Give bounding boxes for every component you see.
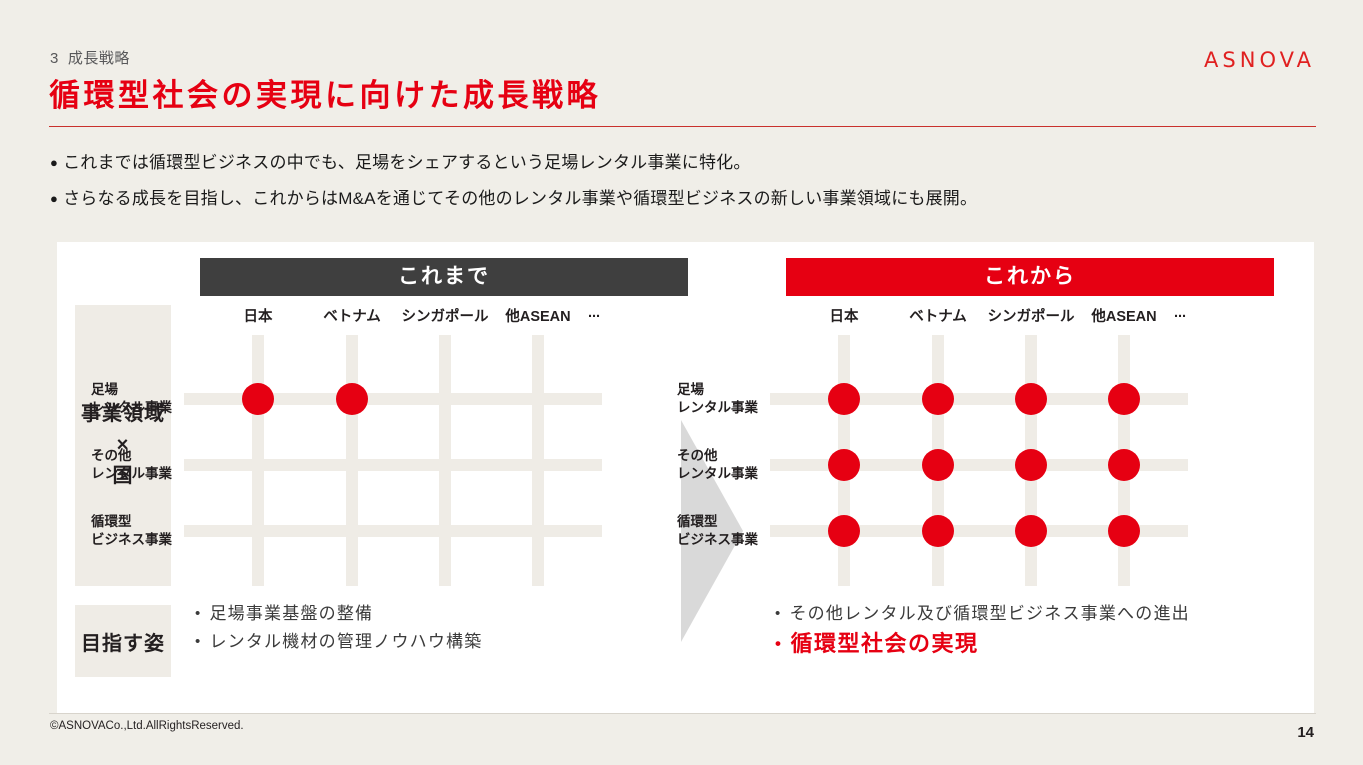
- section-label: 3成長戦略: [50, 47, 130, 68]
- matrix-row-label-line-1: その他: [91, 447, 172, 465]
- goal-list-future: • その他レンタル及び循環型ビジネス事業への進出 • 循環型社会の実現: [775, 600, 1190, 660]
- matrix-column-label: 他ASEAN: [505, 305, 570, 326]
- matrix-node-dot: [828, 515, 860, 547]
- goal-item-text: 循環型社会の実現: [790, 628, 978, 660]
- lead-bullet-item: ● さらなる成長を目指し、これからはM&Aを通じてその他のレンタル事業や循環型ビ…: [50, 188, 1330, 210]
- slide-header: 3成長戦略 循環型社会の実現に向けた成長戦略 ASNOVA: [0, 0, 1363, 132]
- grid-line-horizontal: [184, 525, 602, 537]
- matrix-row-label: その他レンタル事業: [677, 447, 758, 483]
- goal-list-item-highlight: • 循環型社会の実現: [775, 628, 1190, 660]
- lead-bullet-text: さらなる成長を目指し、これからはM&Aを通じてその他のレンタル事業や循環型ビジネ…: [63, 188, 977, 210]
- matrix-past: 日本ベトナムシンガポール他ASEAN...足場レンタル事業その他レンタル事業循環…: [184, 305, 689, 586]
- content-panel: これまで これから 事業領域 × 国 目指す姿 日本ベトナムシンガポール他ASE…: [57, 242, 1314, 713]
- section-name: 成長戦略: [68, 50, 130, 67]
- goal-list-item: • 足場事業基盤の整備: [195, 600, 482, 628]
- matrix-column-label: 日本: [244, 305, 273, 326]
- matrix-row-label-line-2: レンタル事業: [677, 465, 758, 483]
- side-label-goal: 目指す姿: [75, 605, 171, 677]
- goal-list-item: • レンタル機材の管理ノウハウ構築: [195, 628, 482, 656]
- matrix-column-overflow-label: ...: [1174, 305, 1186, 321]
- matrix-row-label-line-1: 循環型: [677, 513, 758, 531]
- footer-divider: [49, 713, 1316, 714]
- matrix-node-dot: [1015, 383, 1047, 415]
- bullet-marker-icon: •: [775, 600, 781, 628]
- matrix-column-overflow-label: ...: [588, 305, 600, 321]
- page-number: 14: [1297, 724, 1314, 741]
- asnova-logo: ASNOVA: [1204, 48, 1315, 72]
- matrix-node-dot: [242, 383, 274, 415]
- lead-bullet-list: ● これまでは循環型ビジネスの中でも、足場をシェアするという足場レンタル事業に特…: [50, 152, 1330, 224]
- goal-list-item: • その他レンタル及び循環型ビジネス事業への進出: [775, 600, 1190, 628]
- page-title: 循環型社会の実現に向けた成長戦略: [49, 70, 601, 115]
- matrix-row-label: 循環型ビジネス事業: [677, 513, 758, 549]
- matrix-node-dot: [1108, 383, 1140, 415]
- bullet-marker-icon: •: [195, 600, 201, 628]
- matrix-node-dot: [1108, 449, 1140, 481]
- matrix-column-label: 日本: [830, 305, 859, 326]
- goal-list-past: • 足場事業基盤の整備 • レンタル機材の管理ノウハウ構築: [195, 600, 482, 656]
- matrix-node-dot: [828, 449, 860, 481]
- matrix-column-label: シンガポール: [402, 305, 489, 326]
- banner-past: これまで: [200, 258, 688, 296]
- matrix-future: 日本ベトナムシンガポール他ASEAN...足場レンタル事業その他レンタル事業循環…: [770, 305, 1275, 586]
- matrix-node-dot: [922, 449, 954, 481]
- matrix-row-label-line-2: レンタル事業: [91, 399, 172, 417]
- matrix-node-dot: [1015, 449, 1047, 481]
- goal-item-text: 足場事業基盤の整備: [209, 600, 373, 628]
- matrix-column-label: ベトナム: [909, 305, 967, 326]
- banner-future: これから: [786, 258, 1274, 296]
- matrix-row-label: 循環型ビジネス事業: [91, 513, 172, 549]
- bullet-marker-icon: •: [775, 628, 782, 660]
- matrix-node-dot: [922, 383, 954, 415]
- matrix-node-dot: [336, 383, 368, 415]
- matrix-column-label: ベトナム: [323, 305, 381, 326]
- matrix-node-dot: [922, 515, 954, 547]
- matrix-row-label-line-2: ビジネス事業: [91, 531, 172, 549]
- lead-bullet-item: ● これまでは循環型ビジネスの中でも、足場をシェアするという足場レンタル事業に特…: [50, 152, 1330, 174]
- title-divider: [49, 126, 1316, 127]
- matrix-row-label-line-1: 循環型: [91, 513, 172, 531]
- bullet-marker-icon: ●: [50, 152, 58, 174]
- grid-line-horizontal: [184, 459, 602, 471]
- matrix-node-dot: [828, 383, 860, 415]
- matrix-column-label: 他ASEAN: [1091, 305, 1156, 326]
- matrix-row-label: 足場レンタル事業: [91, 381, 172, 417]
- copyright-text: ©ASNOVACo.,Ltd.AllRightsReserved.: [50, 720, 244, 732]
- matrix-row-label-line-1: その他: [677, 447, 758, 465]
- matrix-node-dot: [1108, 515, 1140, 547]
- matrix-column-label: シンガポール: [988, 305, 1075, 326]
- goal-item-text: レンタル機材の管理ノウハウ構築: [209, 628, 482, 656]
- section-number: 3: [50, 50, 59, 67]
- lead-bullet-text: これまでは循環型ビジネスの中でも、足場をシェアするという足場レンタル事業に特化。: [63, 152, 751, 174]
- matrix-node-dot: [1015, 515, 1047, 547]
- matrix-row-label: 足場レンタル事業: [677, 381, 758, 417]
- matrix-row-label-line-1: 足場: [677, 381, 758, 399]
- matrix-row-label-line-2: ビジネス事業: [677, 531, 758, 549]
- bullet-marker-icon: •: [195, 628, 201, 656]
- goal-item-text: その他レンタル及び循環型ビジネス事業への進出: [789, 600, 1189, 628]
- matrix-row-label-line-2: レンタル事業: [91, 465, 172, 483]
- bullet-marker-icon: ●: [50, 188, 58, 210]
- matrix-row-label: その他レンタル事業: [91, 447, 172, 483]
- matrix-row-label-line-2: レンタル事業: [677, 399, 758, 417]
- matrix-row-label-line-1: 足場: [91, 381, 172, 399]
